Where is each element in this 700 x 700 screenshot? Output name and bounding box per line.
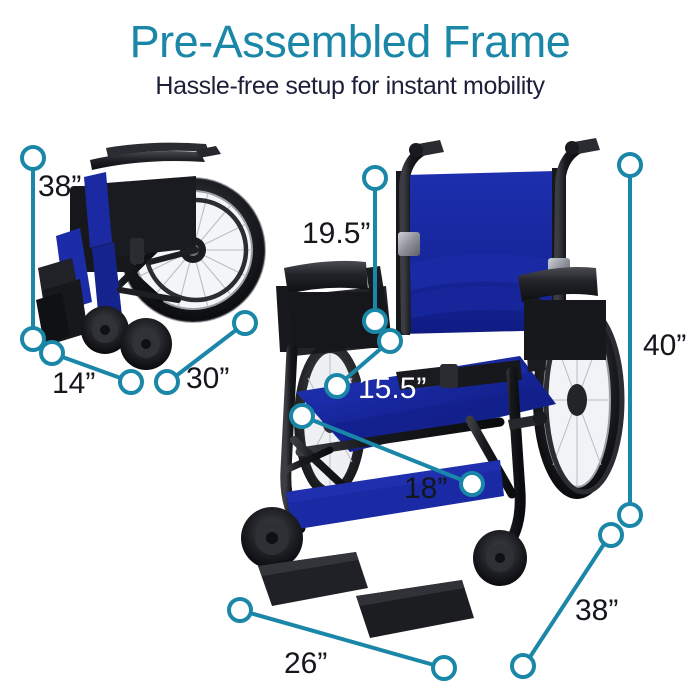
- dimension-label-overall-height: 40”: [643, 329, 686, 362]
- dimension-label-folded-height: 38”: [38, 170, 81, 203]
- dimension-overall-height[interactable]: [619, 154, 641, 526]
- infographic-canvas: Pre-Assembled Frame Hassle-free setup fo…: [0, 0, 700, 700]
- dimension-label-folded-length: 30”: [186, 362, 229, 395]
- dimension-label-footrest-span: 26”: [284, 647, 327, 680]
- dimension-label-folded-width: 14”: [52, 367, 95, 400]
- dimension-label-seat-width: 18”: [404, 472, 447, 505]
- dimension-label-overall-depth: 38”: [575, 594, 618, 627]
- dimension-seat-width[interactable]: [291, 405, 483, 495]
- dimension-annotations: 38” 14” 30” 19.5” 15.5” 18” 40” 38” 26”: [0, 0, 700, 700]
- dimension-label-backrest-height: 19.5”: [302, 217, 370, 250]
- dimension-footrest-span[interactable]: [229, 599, 455, 679]
- dimension-label-seat-depth: 15.5”: [358, 372, 426, 405]
